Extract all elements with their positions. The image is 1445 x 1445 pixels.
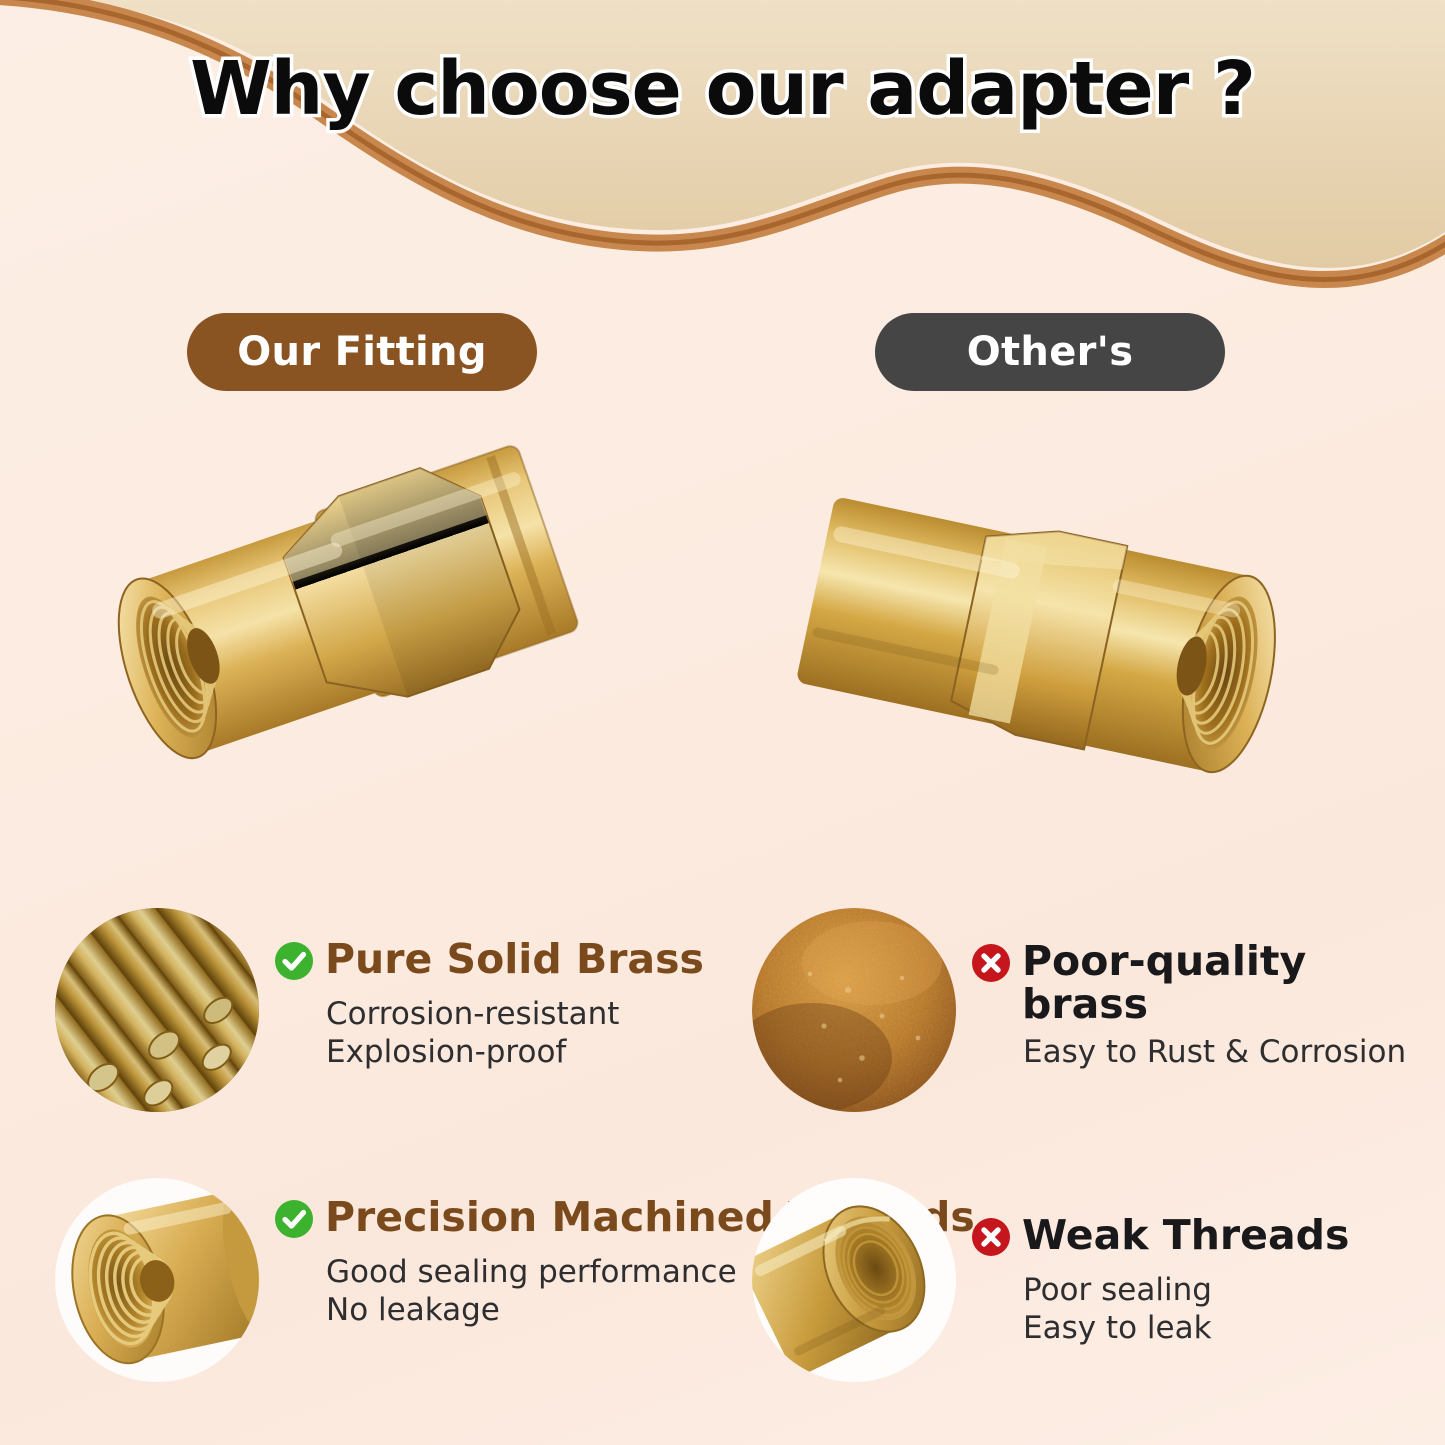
x-circle-icon [971,943,1011,991]
feature-poor-quality-brass: Poor-quality brass Easy to Rust & Corros… [752,908,1445,1113]
check-circle-icon [274,1199,314,1247]
feature-title: Weak Threads [1022,1214,1349,1257]
thumbnail-weak-threads [752,1178,957,1383]
feature-weak-threads: Weak Threads Poor sealing Easy to leak [752,1178,1349,1383]
product-photo-other [770,440,1330,840]
infographic-page: Why choose our adapter ? Our Fitting Oth… [0,0,1445,1445]
product-photo-ours [60,415,640,815]
feature-subtitle: Corrosion-resistant Explosion-proof [326,996,704,1070]
column-label-other: Other's [875,313,1225,391]
page-title: Why choose our adapter ? [0,46,1445,132]
x-circle-icon [971,1217,1011,1265]
column-label-other-text: Other's [967,329,1134,375]
header-wave-decoration [0,0,1445,300]
feature-subtitle: Poor sealing Easy to leak [1023,1272,1349,1346]
thumbnail-precision-threads [55,1178,260,1383]
feature-title: Pure Solid Brass [325,938,704,981]
column-label-ours-text: Our Fitting [237,329,487,375]
check-circle-icon [274,941,314,989]
feature-title: Poor-quality brass [1022,940,1445,1027]
thumbnail-rusted-brass [752,908,957,1113]
feature-pure-solid-brass: Pure Solid Brass Corrosion-resistant Exp… [55,908,704,1113]
feature-subtitle: Easy to Rust & Corrosion [1023,1034,1445,1071]
column-label-ours: Our Fitting [187,313,537,391]
thumbnail-brass-rods [55,908,260,1113]
